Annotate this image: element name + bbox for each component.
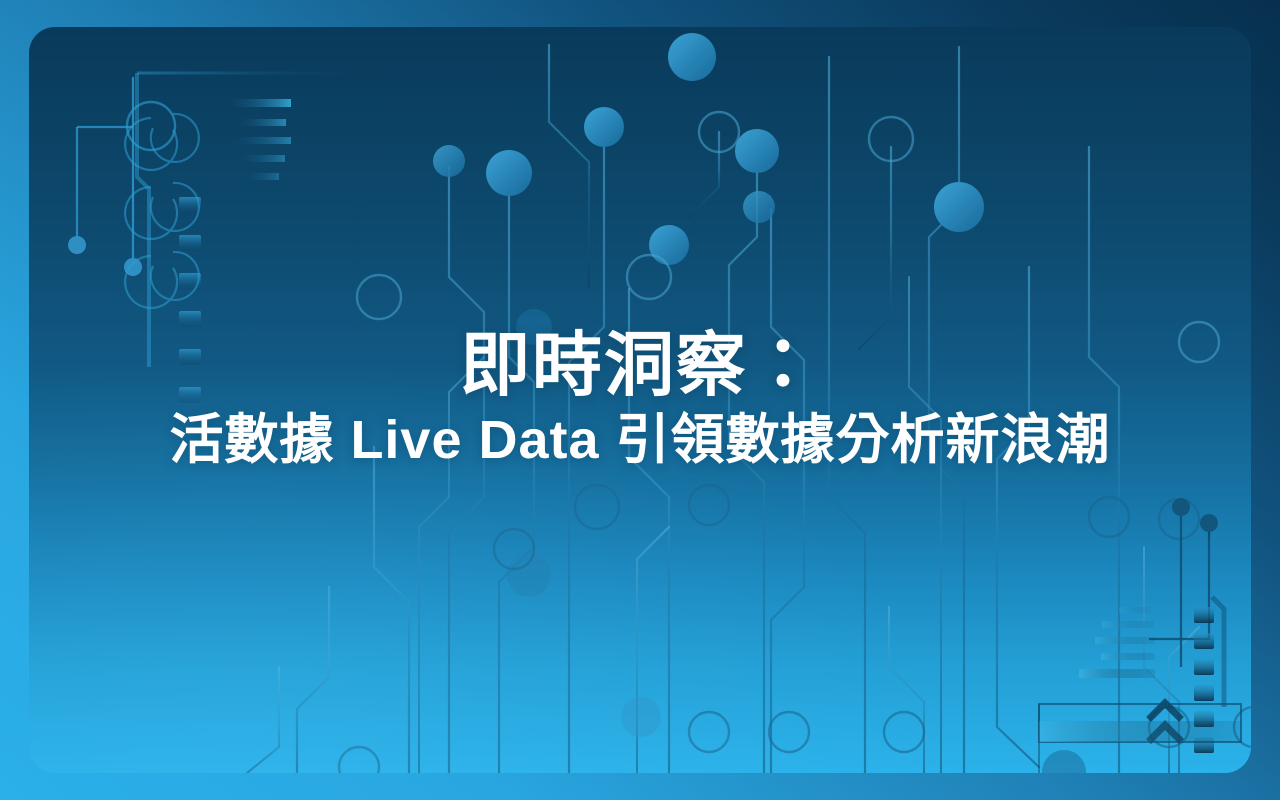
hud-bar bbox=[225, 99, 291, 180]
chevron-up-icon bbox=[1151, 703, 1179, 739]
hud-bar bbox=[1079, 607, 1155, 678]
hud-ring bbox=[125, 114, 199, 308]
terminal-dot bbox=[1172, 498, 1190, 516]
slide-canvas: 即時洞察： 活數據 Live Data 引領數據分析新浪潮 bbox=[0, 0, 1280, 800]
hud-ring bbox=[127, 102, 175, 150]
terminal-dot bbox=[124, 258, 142, 276]
circuit-hud-cluster-top-left bbox=[29, 27, 1251, 773]
circuit-hud-cluster-bottom-right bbox=[29, 27, 1251, 773]
terminal-dot bbox=[68, 236, 86, 254]
circuit-ring bbox=[339, 485, 1251, 773]
circuit-node bbox=[433, 33, 1086, 773]
terminal-dot bbox=[1200, 514, 1218, 532]
hud-square bbox=[179, 197, 201, 403]
slide-inner-panel bbox=[29, 27, 1251, 773]
terminal-line bbox=[1149, 498, 1224, 707]
circuit-trace-network bbox=[29, 27, 1251, 773]
hud-square bbox=[1194, 607, 1214, 753]
terminal-line bbox=[68, 77, 142, 276]
circuit-ring bbox=[357, 112, 1219, 362]
